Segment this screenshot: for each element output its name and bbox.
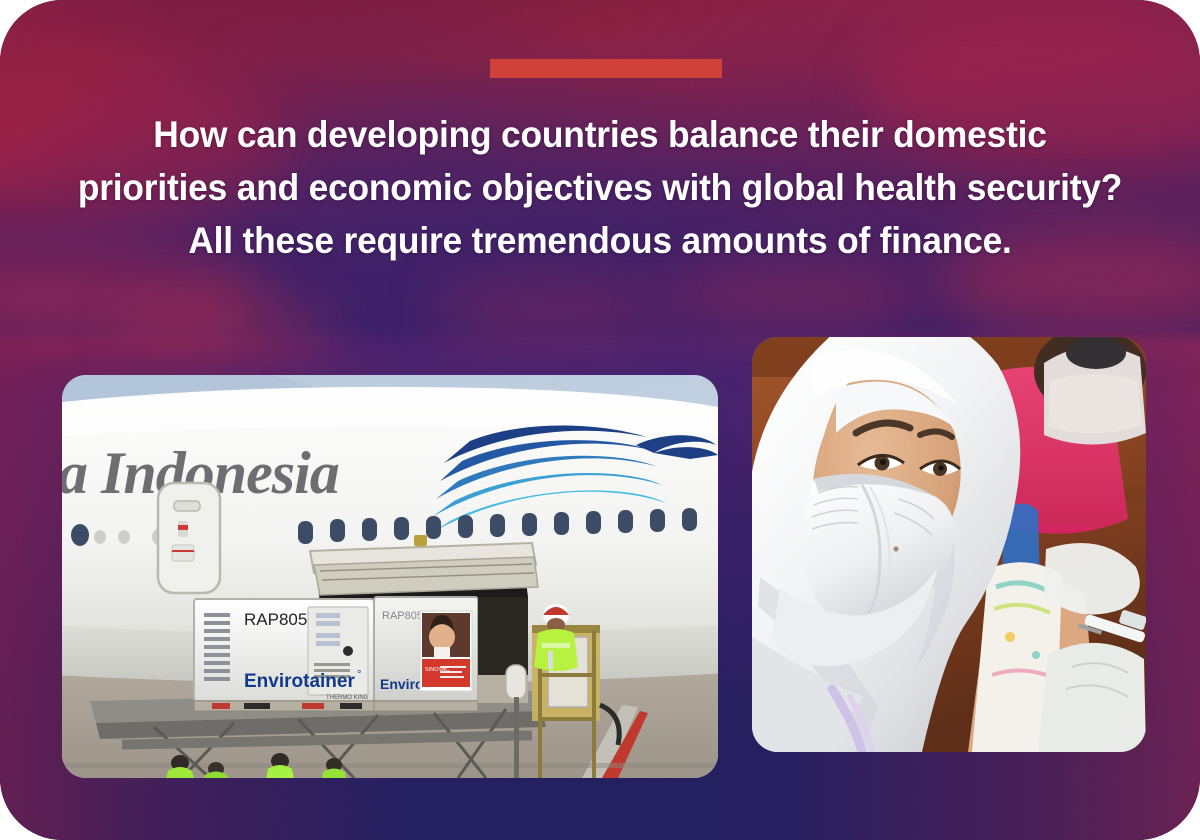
svg-text:THERMO KING: THERMO KING [326, 695, 369, 701]
headline: How can developing countries balance the… [27, 108, 1173, 267]
headline-line-2: priorities and economic objectives with … [27, 161, 1173, 214]
quote-card: How can developing countries balance the… [0, 0, 1200, 840]
photo-vaccination-portrait: Young woman in a white hijab and white f… [752, 337, 1146, 752]
headline-line-1: How can developing countries balance the… [27, 108, 1173, 161]
accent-bar [490, 59, 722, 78]
svg-text:°: ° [357, 669, 361, 681]
container-brand-text: Envirotainer [244, 671, 355, 692]
headline-line-3: All these require tremendous amounts of … [27, 214, 1173, 267]
photo-vaccine-cargo-plane: Garuda Indonesia wide-body aircraft bein… [62, 375, 718, 778]
